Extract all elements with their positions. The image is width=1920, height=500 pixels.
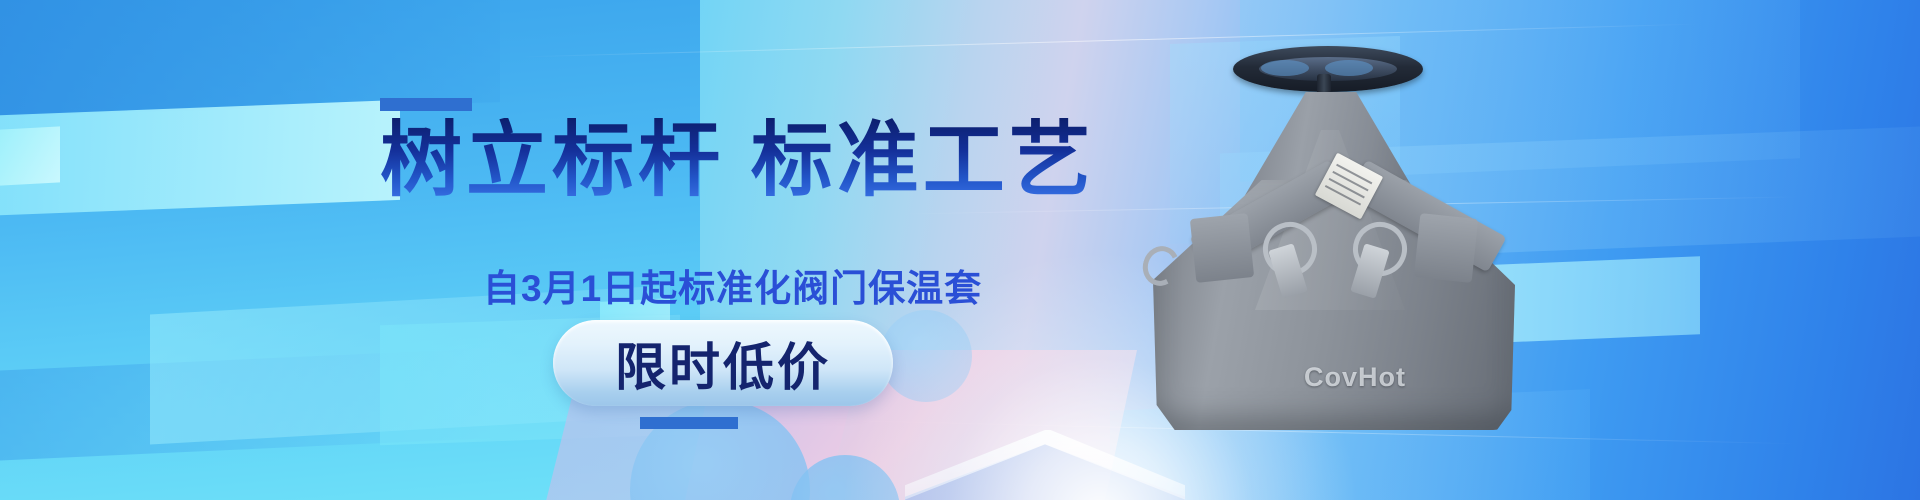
cta-button-label: 限时低价 — [615, 326, 831, 400]
jacket-flap-right — [1414, 213, 1478, 283]
promo-banner: 树立标杆 标准工艺 自3月1日起标准化阀门保温套 限时低价 C — [0, 0, 1920, 500]
subtitle: 自3月1日起标准化阀门保温套 — [483, 258, 982, 312]
headline: 树立标杆 标准工艺 — [380, 118, 1095, 204]
banner-content: 树立标杆 标准工艺 自3月1日起标准化阀门保温套 限时低价 — [0, 0, 1920, 500]
product-brand-text: CovHot — [1135, 362, 1575, 393]
product-image-valve-jacket: CovHot — [1135, 10, 1575, 450]
valve-handwheel-spoke-gap-left — [1261, 60, 1309, 76]
cta-button[interactable]: 限时低价 — [553, 320, 893, 406]
valve-handwheel-spoke-gap-right — [1325, 60, 1373, 76]
jacket-flap-left — [1190, 213, 1254, 283]
accent-dash-bottom — [640, 417, 738, 429]
accent-dash-top — [380, 98, 472, 111]
